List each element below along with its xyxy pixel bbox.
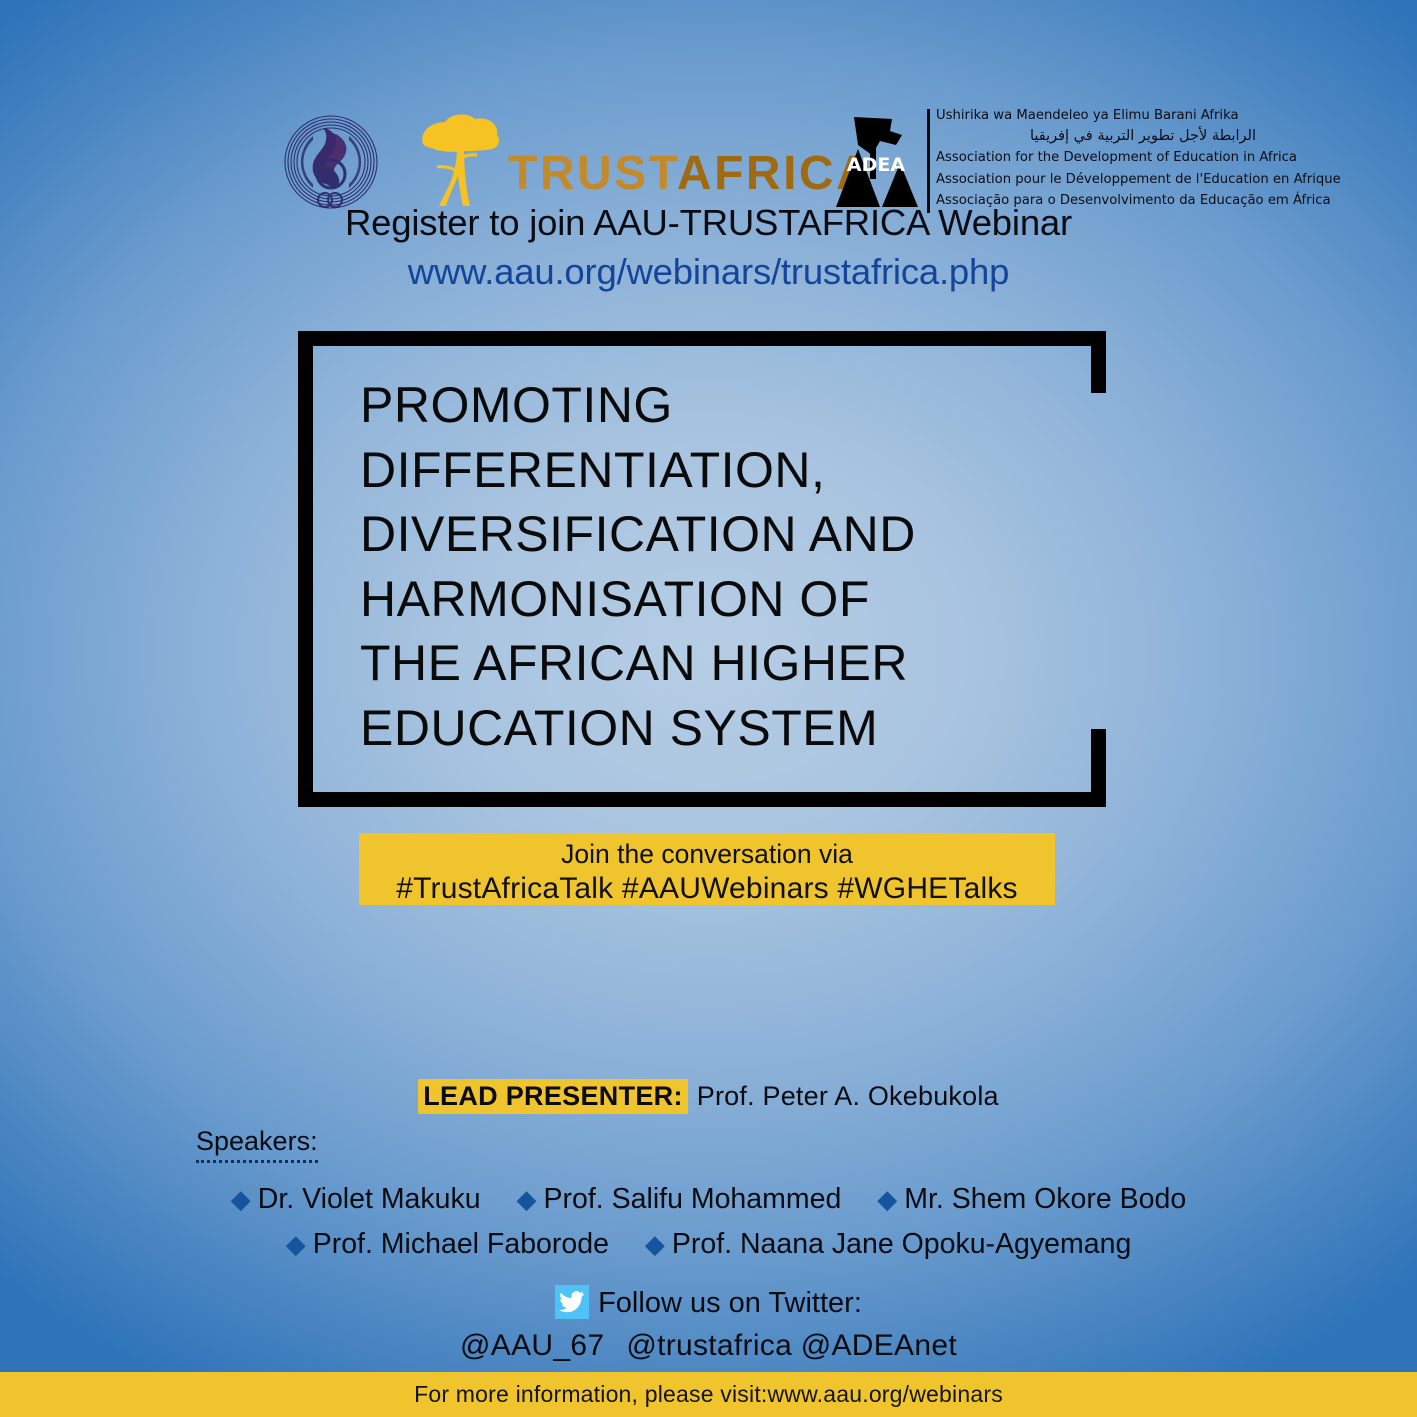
title-line-2: DIFFERENTIATION,: [360, 438, 1090, 503]
page-title: PROMOTING DIFFERENTIATION, DIVERSIFICATI…: [360, 373, 1090, 760]
register-url[interactable]: www.aau.org/webinars/trustafrica.php: [0, 246, 1417, 298]
speaker-name: Prof. Salifu Mohammed: [544, 1183, 842, 1215]
title-line-4: HARMONISATION OF: [360, 567, 1090, 632]
twitter-handle-trustafrica[interactable]: @trustafrica: [626, 1329, 792, 1362]
hashtag-list: #TrustAfricaTalk #AAUWebinars #WGHETalks: [359, 871, 1055, 907]
twitter-icon[interactable]: [555, 1285, 589, 1319]
footer-text: For more information, please visit:www.a…: [0, 1381, 1417, 1408]
diamond-bullet-icon: ◆: [877, 1184, 904, 1214]
adea-line-fr: Association pour le Développement de l'E…: [936, 169, 1256, 190]
list-item: ◆Dr. Violet Makuku: [217, 1183, 495, 1216]
register-headline: Register to join AAU-TRUSTAFRICA Webinar: [0, 200, 1417, 246]
adea-divider: [927, 109, 930, 213]
adea-line-en: Association for the Development of Educa…: [936, 147, 1256, 168]
title-line-1: PROMOTING: [360, 373, 1090, 438]
diamond-bullet-icon: ◆: [517, 1184, 544, 1214]
twitter-follow-label: Follow us on Twitter:: [598, 1287, 862, 1319]
title-line-3: DIVERSIFICATION AND: [360, 502, 1090, 567]
footer-bar: For more information, please visit:www.a…: [0, 1372, 1417, 1417]
hashtag-banner: Join the conversation via #TrustAfricaTa…: [359, 833, 1055, 905]
trust-text: TRUST: [508, 147, 677, 200]
twitter-section: Follow us on Twitter: @AAU_67@trustafric…: [0, 1282, 1417, 1368]
title-frame: PROMOTING DIFFERENTIATION, DIVERSIFICATI…: [298, 331, 1106, 807]
frame-left: [298, 331, 313, 807]
twitter-handle-adea[interactable]: @ADEAnet: [801, 1329, 957, 1362]
list-item: ◆Prof. Michael Faborode: [272, 1228, 623, 1261]
lead-presenter: LEAD PRESENTER:Prof. Peter A. Okebukola: [0, 1081, 1417, 1112]
list-item: ◆Prof. Naana Jane Opoku-Agyemang: [631, 1228, 1145, 1261]
twitter-follow-line: Follow us on Twitter:: [0, 1282, 1417, 1324]
list-item: ◆Mr. Shem Okore Bodo: [863, 1183, 1200, 1216]
lead-presenter-label: LEAD PRESENTER:: [418, 1079, 688, 1114]
speakers-row-2: ◆Prof. Michael Faborode ◆Prof. Naana Jan…: [0, 1228, 1417, 1261]
logo-bar: TRUSTAFRICA ADEA Ushirika wa Maendeleo y…: [0, 50, 1417, 170]
adea-taglines: Ushirika wa Maendeleo ya Elimu Barani Af…: [936, 105, 1256, 211]
speaker-name: Prof. Michael Faborode: [313, 1228, 609, 1260]
twitter-handles: @AAU_67@trustafrica @ADEAnet: [0, 1324, 1417, 1368]
adea-mark-icon: ADEA: [832, 111, 920, 211]
speaker-name: Dr. Violet Makuku: [258, 1183, 481, 1215]
speaker-name: Mr. Shem Okore Bodo: [904, 1183, 1186, 1215]
webinar-flyer: TRUSTAFRICA ADEA Ushirika wa Maendeleo y…: [0, 0, 1417, 1417]
list-item: ◆Prof. Salifu Mohammed: [503, 1183, 856, 1216]
registration-block: Register to join AAU-TRUSTAFRICA Webinar…: [0, 200, 1417, 298]
title-line-5: THE AFRICAN HIGHER: [360, 631, 1090, 696]
frame-right-bottom-stub: [1091, 729, 1106, 807]
frame-bottom: [298, 792, 1106, 807]
frame-top: [298, 331, 1106, 346]
lead-presenter-name: Prof. Peter A. Okebukola: [688, 1081, 999, 1111]
diamond-bullet-icon: ◆: [231, 1184, 258, 1214]
speakers-heading: Speakers:: [196, 1126, 318, 1163]
frame-right-top-stub: [1091, 331, 1106, 393]
twitter-handle-aau[interactable]: @AAU_67: [460, 1329, 604, 1362]
svg-text:ADEA: ADEA: [847, 154, 905, 176]
adea-line-ar: الرابطة لأجل تطوير التربية في إفريقيا: [936, 126, 1256, 147]
event-datetime: 19thOCT2017: [0, 930, 1417, 1050]
speaker-name: Prof. Naana Jane Opoku-Agyemang: [672, 1228, 1131, 1260]
trustafrica-wordmark: TRUSTAFRICA: [508, 150, 873, 198]
hashtag-prompt: Join the conversation via: [359, 833, 1055, 871]
diamond-bullet-icon: ◆: [645, 1229, 672, 1259]
diamond-bullet-icon: ◆: [286, 1229, 313, 1259]
acacia-tree-icon: [405, 112, 515, 208]
trustafrica-logo: TRUSTAFRICA: [405, 112, 805, 212]
speakers-row-1: ◆Dr. Violet Makuku ◆Prof. Salifu Mohamme…: [0, 1183, 1417, 1216]
title-line-6: EDUCATION SYSTEM: [360, 696, 1090, 761]
adea-line-sw: Ushirika wa Maendeleo ya Elimu Barani Af…: [936, 105, 1256, 126]
